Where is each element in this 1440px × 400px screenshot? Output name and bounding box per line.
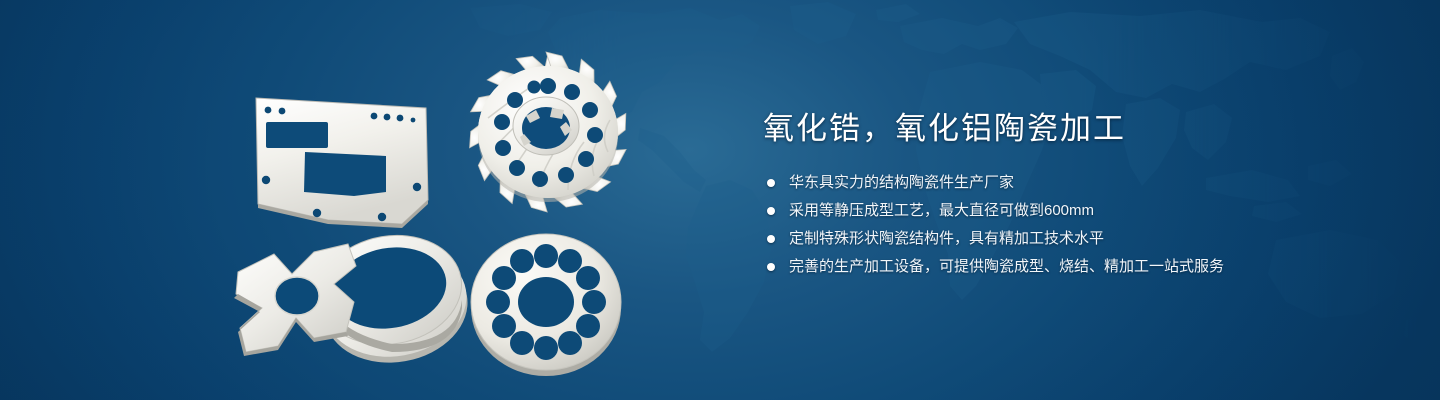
bullet-dot-icon [767, 235, 775, 243]
list-item: 定制特殊形状陶瓷结构件，具有精加工技术水平 [767, 228, 1323, 249]
bullet-dot-icon [767, 263, 775, 271]
list-item: 华东具实力的结构陶瓷件生产厂家 [767, 172, 1323, 193]
list-item-label: 采用等静压成型工艺，最大直径可做到600mm [789, 200, 1094, 221]
page-title: 氧化锆，氧化铝陶瓷加工 [763, 108, 1323, 150]
list-item: 采用等静压成型工艺，最大直径可做到600mm [767, 200, 1323, 221]
ceramic-hole-disc [471, 234, 621, 376]
ceramic-impeller [465, 50, 630, 214]
list-item-label: 华东具实力的结构陶瓷件生产厂家 [789, 172, 1014, 193]
list-item-label: 定制特殊形状陶瓷结构件，具有精加工技术水平 [789, 228, 1104, 249]
list-item-label: 完善的生产加工设备，可提供陶瓷成型、烧结、精加工一站式服务 [789, 256, 1224, 277]
ceramic-parts-photo [230, 40, 710, 390]
flat-ceramic-plate [256, 98, 428, 228]
banner-copy: 氧化锆，氧化铝陶瓷加工 华东具实力的结构陶瓷件生产厂家 采用等静压成型工艺，最大… [763, 108, 1323, 284]
bullet-dot-icon [767, 207, 775, 215]
bullet-dot-icon [767, 179, 775, 187]
hero-banner: 氧化锆，氧化铝陶瓷加工 华东具实力的结构陶瓷件生产厂家 采用等静压成型工艺，最大… [0, 0, 1440, 400]
feature-list: 华东具实力的结构陶瓷件生产厂家 采用等静压成型工艺，最大直径可做到600mm 定… [767, 172, 1323, 277]
list-item: 完善的生产加工设备，可提供陶瓷成型、烧结、精加工一站式服务 [767, 256, 1323, 277]
